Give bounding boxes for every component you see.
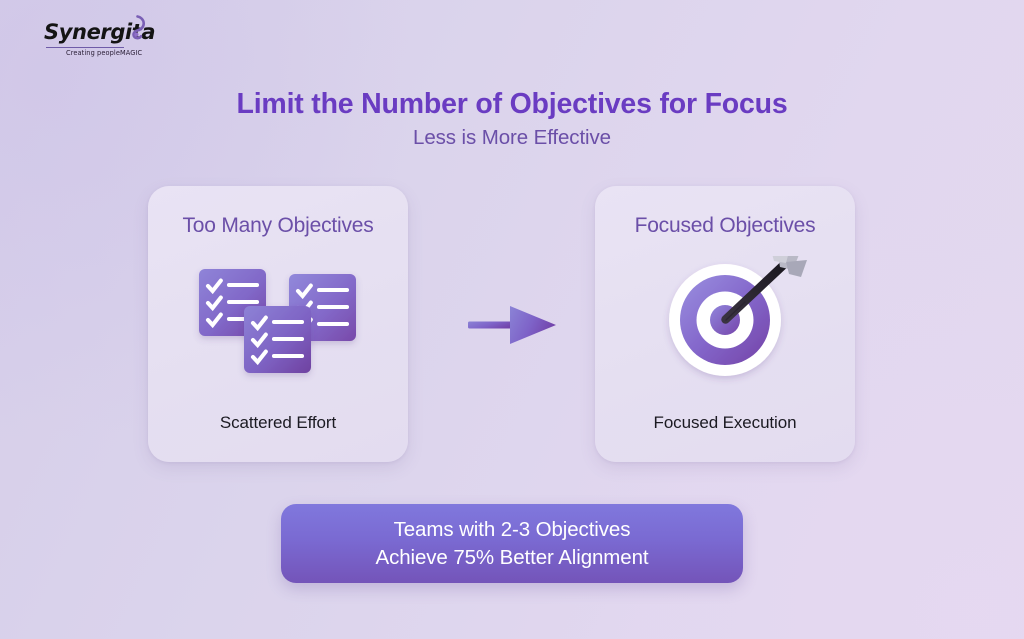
infographic-canvas: Synergita Creating peopleMAGIC Limit the… — [0, 0, 1024, 639]
logo-divider — [46, 47, 124, 48]
right-arrow-icon — [466, 303, 558, 347]
card-caption: Focused Execution — [595, 413, 855, 433]
card-title: Focused Objectives — [595, 214, 855, 238]
card-too-many-objectives: Too Many Objectives — [148, 186, 408, 462]
card-title: Too Many Objectives — [148, 214, 408, 238]
stat-banner-line-1: Teams with 2-3 Objectives — [394, 516, 631, 543]
stacked-checklists-icon — [148, 256, 408, 401]
page-title: Limit the Number of Objectives for Focus — [0, 88, 1024, 121]
target-with-arrow-icon — [595, 256, 855, 401]
brand-logo: Synergita Creating peopleMAGIC — [44, 22, 244, 57]
swirl-icon — [126, 15, 146, 41]
page-subtitle: Less is More Effective — [0, 126, 1024, 150]
card-caption: Scattered Effort — [148, 413, 408, 433]
card-focused-objectives: Focused Objectives — [595, 186, 855, 462]
brand-tagline: Creating peopleMAGIC — [66, 49, 244, 57]
stat-banner: Teams with 2-3 Objectives Achieve 75% Be… — [281, 504, 743, 583]
stat-banner-line-2: Achieve 75% Better Alignment — [376, 544, 649, 571]
